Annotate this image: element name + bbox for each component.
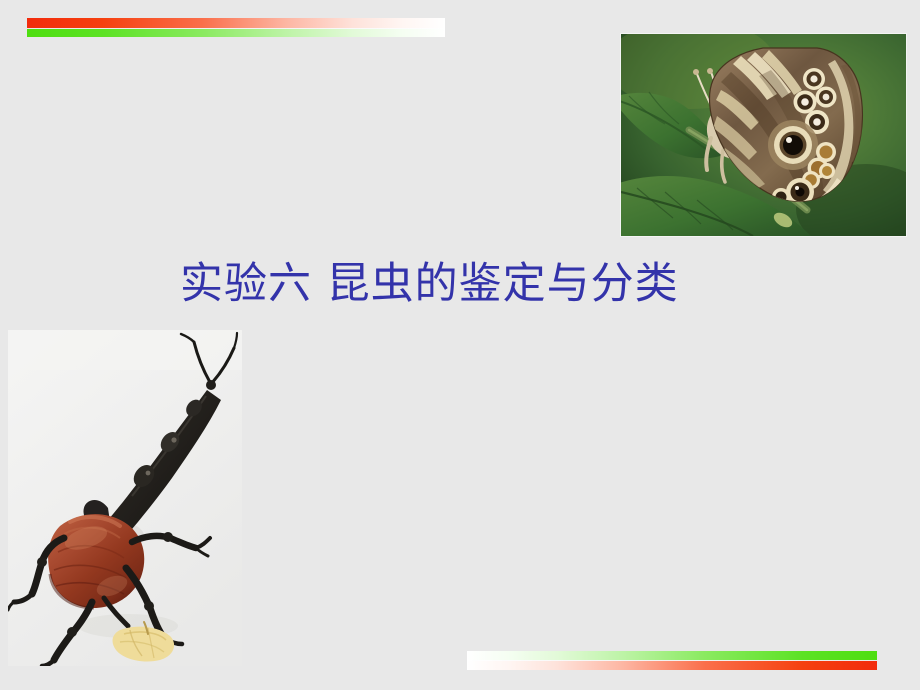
top-bar-green-stripe [27, 29, 445, 37]
bottom-bar-red-stripe [467, 661, 877, 670]
butterfly-photo [621, 34, 906, 236]
presentation-slide: 实验六 昆虫的鉴定与分类 [0, 0, 920, 690]
bottom-bar-green-stripe [467, 651, 877, 660]
bottom-accent-bar [467, 651, 877, 670]
weevil-photo [8, 330, 242, 666]
page-title: 实验六 昆虫的鉴定与分类 [180, 258, 780, 310]
top-accent-bar [27, 18, 445, 37]
top-bar-red-stripe [27, 18, 445, 28]
